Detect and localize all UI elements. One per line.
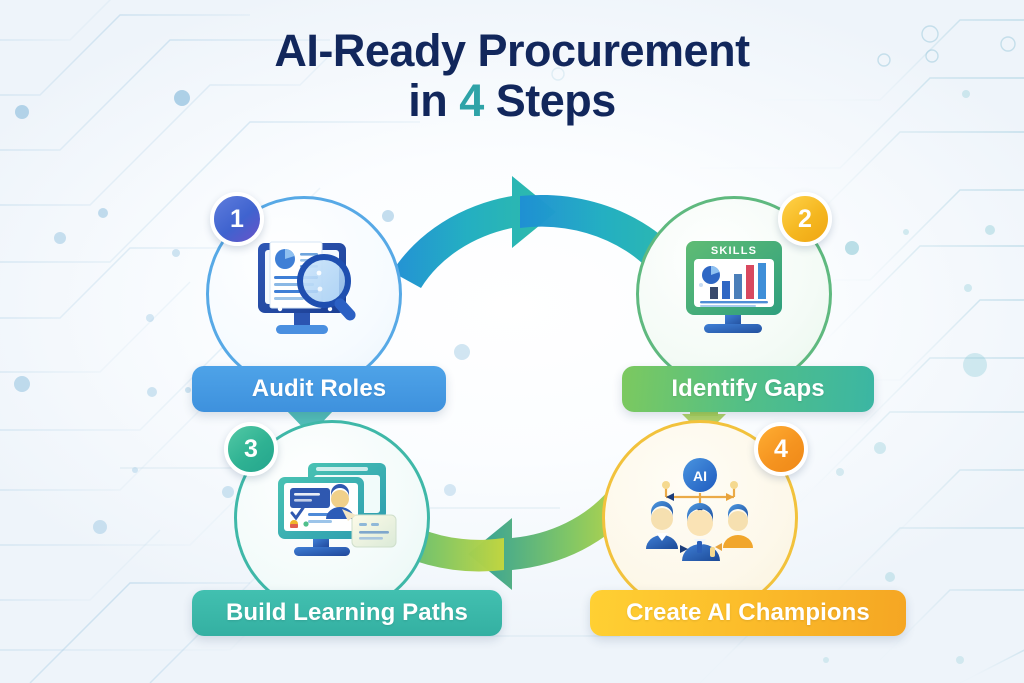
title-line2-prefix: in (408, 75, 459, 126)
step-node-1[interactable]: 1 Audit Roles (192, 196, 416, 412)
step-1-badge: 1 (210, 192, 264, 246)
step-3-label[interactable]: Build Learning Paths (192, 590, 502, 636)
title-line-2: in 4 Steps (0, 76, 1024, 126)
ai-team-network-icon: AI (632, 453, 768, 579)
step-2-badge: 2 (778, 192, 832, 246)
step-4-label[interactable]: Create AI Champions (590, 590, 906, 636)
monitor-magnifier-icon (236, 229, 372, 355)
step-node-3[interactable]: 3 Build Learning Paths (220, 420, 444, 636)
step-2-label[interactable]: Identify Gaps (622, 366, 874, 412)
step-node-4[interactable]: AI (588, 420, 812, 636)
title-line-1: AI-Ready Procurement (0, 26, 1024, 76)
infographic-canvas: AI-Ready Procurement in 4 Steps (0, 0, 1024, 683)
step-4-badge: 4 (754, 422, 808, 476)
step-1-label[interactable]: Audit Roles (192, 366, 446, 412)
skills-dashboard-chart-icon: SKILLS (666, 229, 802, 355)
step-3-badge: 3 (224, 422, 278, 476)
page-title: AI-Ready Procurement in 4 Steps (0, 26, 1024, 127)
elearning-course-icon (264, 453, 400, 579)
step-node-2[interactable]: SKILLS 2 Identify Gaps (622, 196, 846, 412)
title-line2-suffix: Steps (484, 75, 616, 126)
title-step-count: 4 (459, 75, 484, 126)
svg-text:AI: AI (693, 468, 707, 484)
svg-text:SKILLS: SKILLS (711, 245, 757, 257)
